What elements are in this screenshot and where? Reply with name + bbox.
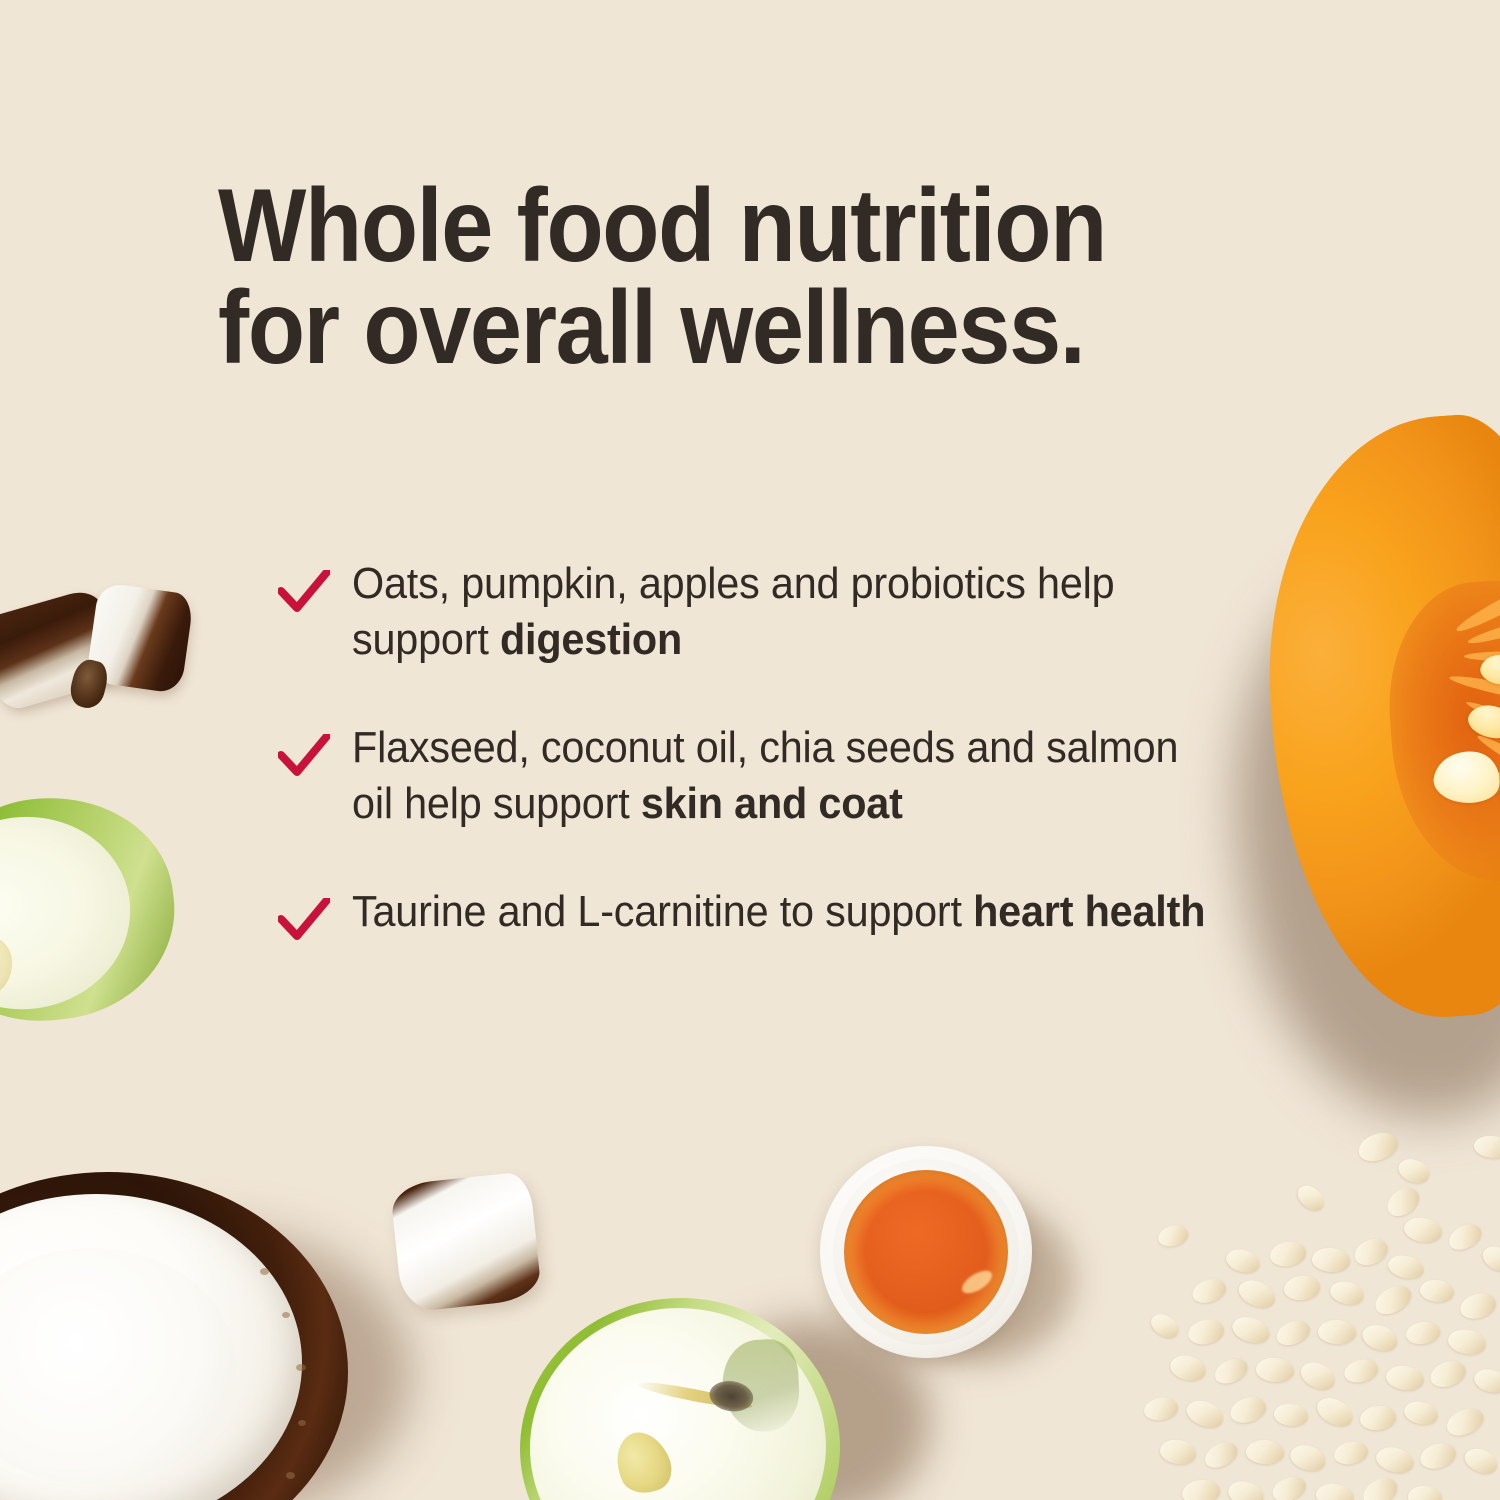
oat-flake <box>1402 1398 1440 1428</box>
oat-flake <box>1183 1395 1227 1432</box>
oat-flake <box>1167 1352 1208 1385</box>
oat-flake <box>1313 1392 1358 1432</box>
oat-flake <box>1293 1181 1329 1216</box>
oat-flake <box>1351 1235 1392 1270</box>
oat-flake <box>1446 1326 1488 1357</box>
bowl-oil <box>844 1170 1008 1334</box>
oat-flake <box>1229 1312 1273 1348</box>
oat-flake <box>1419 1278 1456 1305</box>
promo-image: Whole food nutrition for overall wellnes… <box>0 0 1500 1500</box>
oat-flake <box>1201 1438 1241 1473</box>
rolled-oats-image <box>1130 1130 1500 1500</box>
oat-flake <box>1359 1405 1397 1431</box>
oat-flake <box>1358 1473 1401 1500</box>
oat-flake <box>1245 1439 1285 1466</box>
oat-flake <box>1143 1396 1180 1423</box>
coconut-chunk-icon <box>390 1171 543 1313</box>
oat-flake <box>1384 1363 1426 1393</box>
oat-flake <box>1156 1223 1190 1249</box>
list-item: Taurine and L-carnitine to support heart… <box>278 884 1278 940</box>
green-apple-slice-image <box>0 784 187 1035</box>
oat-flake <box>1158 1437 1198 1468</box>
coconut-husk-fleck <box>260 1268 269 1275</box>
oat-flake <box>1427 1357 1469 1391</box>
oat-flake <box>1273 1402 1310 1429</box>
oat-flake <box>1382 1183 1424 1222</box>
page-title: Whole food nutrition for overall wellnes… <box>218 176 1226 380</box>
coconut-meat-inner <box>0 1248 236 1485</box>
coconut-husk-fleck <box>298 1420 306 1426</box>
salmon-oil-bowl-image <box>820 1146 1032 1358</box>
check-icon <box>278 570 330 614</box>
headline-line-2: for overall wellness. <box>218 278 1226 380</box>
oat-flake <box>1314 1481 1356 1500</box>
oat-flake <box>1269 1240 1308 1269</box>
list-item-text-normal: Taurine and L-carnitine to support <box>352 887 973 936</box>
oat-flake <box>1443 1404 1487 1440</box>
list-item-text: Flaxseed, coconut oil, chia seeds and sa… <box>352 720 1222 832</box>
coconut-half-image <box>0 1172 348 1500</box>
list-item-text-normal: Oats, pumpkin, apples and probiotics hel… <box>352 559 1115 664</box>
oat-flake <box>1269 1473 1308 1500</box>
benefits-list: Oats, pumpkin, apples and probiotics hel… <box>278 556 1278 939</box>
oat-flake <box>1402 1214 1444 1245</box>
oat-flake <box>1461 1444 1500 1479</box>
oat-flake <box>1359 1320 1401 1356</box>
oat-flake <box>1405 1320 1441 1345</box>
oat-flake <box>1227 1394 1268 1427</box>
oat-flake <box>1190 1276 1229 1307</box>
oat-flake <box>1211 1354 1251 1388</box>
oat-flake <box>1235 1275 1280 1313</box>
oat-flake <box>1255 1356 1295 1384</box>
oat-flake <box>1317 1319 1357 1346</box>
list-item-text-bold: skin and coat <box>641 779 903 828</box>
oat-flake <box>1296 1357 1339 1395</box>
coconut-husk-fleck <box>282 1312 290 1318</box>
oat-flake <box>1223 1245 1262 1276</box>
oat-flake <box>1386 1252 1426 1282</box>
list-item-text: Oats, pumpkin, apples and probiotics hel… <box>352 556 1222 668</box>
coconut-husk-fleck <box>286 1472 295 1479</box>
list-item-text: Taurine and L-carnitine to support heart… <box>352 884 1222 940</box>
oat-flake <box>1355 1128 1401 1165</box>
oat-flake <box>1371 1280 1416 1319</box>
list-item-text-bold: heart health <box>973 887 1205 936</box>
check-icon <box>278 734 330 778</box>
oat-flake <box>1445 1220 1485 1255</box>
coconut-meat <box>0 1194 302 1500</box>
oat-flake <box>1328 1278 1367 1309</box>
oat-flake <box>1458 1290 1499 1322</box>
oat-flake <box>1373 1443 1416 1477</box>
list-item: Flaxseed, coconut oil, chia seeds and sa… <box>278 720 1278 832</box>
oat-flake <box>1287 1441 1329 1476</box>
list-item-text-bold: digestion <box>500 615 682 664</box>
check-icon <box>278 898 330 942</box>
oat-flake <box>1479 1241 1500 1277</box>
oat-flake <box>1181 1478 1221 1500</box>
list-item: Oats, pumpkin, apples and probiotics hel… <box>278 556 1278 668</box>
oat-flake <box>1273 1317 1312 1349</box>
oat-flake <box>1473 1134 1500 1161</box>
coconut-husk-fleck <box>296 1364 306 1371</box>
oat-flake <box>1342 1357 1380 1386</box>
oat-flake <box>1471 1365 1500 1396</box>
oat-flake <box>1332 1439 1369 1467</box>
oat-flake <box>1147 1309 1183 1342</box>
oat-flake <box>1225 1477 1267 1500</box>
oat-flake <box>1395 1154 1433 1187</box>
oat-flake <box>1418 1440 1459 1472</box>
oat-flake <box>1311 1246 1351 1274</box>
oat-flake <box>1186 1317 1226 1347</box>
oat-flake <box>1283 1275 1321 1301</box>
oat-flake <box>1407 1484 1443 1500</box>
headline-line-1: Whole food nutrition <box>218 176 1226 278</box>
